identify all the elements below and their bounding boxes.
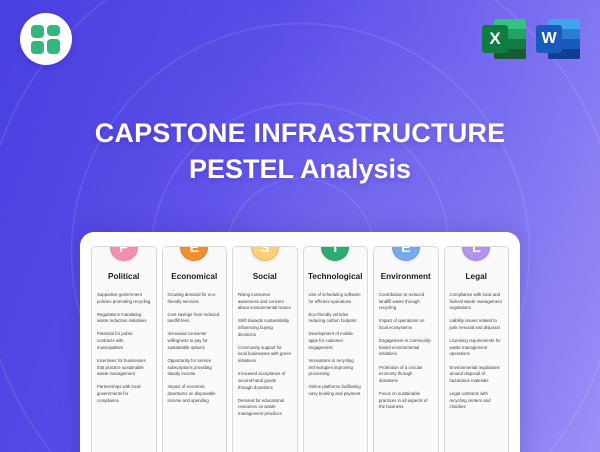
logo-square-top-left <box>31 25 44 38</box>
pestel-bullet: Liability issues related to junk removal… <box>450 318 504 331</box>
pestel-column-political[interactable]: PPoliticalSupportive government policies… <box>91 246 157 452</box>
pestel-bullet: Eco-friendly vehicles reducing carbon fo… <box>309 312 363 325</box>
pestel-badge-legal: L <box>462 246 490 261</box>
word-icon-letter: W <box>536 25 562 53</box>
pestel-bullet: Incentives for businesses that practice … <box>97 358 151 378</box>
top-bar: X W <box>0 0 600 78</box>
pestel-badge-economical: E <box>180 246 208 261</box>
pestel-column-legal[interactable]: LLegalCompliance with local and federal … <box>444 246 510 452</box>
pestel-bullet: Compliance with local and federal waste … <box>450 292 504 312</box>
pestel-column-technological[interactable]: TTechnologicalUse of scheduling software… <box>303 246 369 452</box>
pestel-bullet: Innovations in recycling technologies im… <box>309 358 363 378</box>
pestel-column-environment[interactable]: EEnvironmentContribution to reduced land… <box>373 246 439 452</box>
pestel-column-body: Rising consumer awareness and concern ab… <box>233 292 297 452</box>
pestel-column-title: Social <box>233 263 297 292</box>
pestel-columns: PPoliticalSupportive government policies… <box>91 246 509 452</box>
pestel-column-body: Contribution to reduced landfill waste t… <box>374 292 438 452</box>
grid-logo-icon[interactable] <box>20 13 72 65</box>
pestel-bullet: Regulations mandating waste reduction in… <box>97 312 151 325</box>
pestel-bullet: Increased consumer willingness to pay fo… <box>168 331 222 351</box>
pestel-column-title: Political <box>92 263 156 292</box>
pestel-bullet: Development of mobile apps for customer … <box>309 331 363 351</box>
pestel-bullet: Impact of economic downturns on disposab… <box>168 384 222 404</box>
word-icon[interactable]: W <box>536 17 580 61</box>
pestel-bullet: Community support for local businesses w… <box>238 345 292 365</box>
pestel-bullet: Impact of operations on local ecosystems <box>379 318 433 331</box>
export-icons: X W <box>482 17 580 61</box>
pestel-bullet: Demand for educational resources on wast… <box>238 398 292 418</box>
pestel-bullet: Rising consumer awareness and concern ab… <box>238 292 292 312</box>
pestel-bullet: Growing demand for eco-friendly services <box>168 292 222 305</box>
pestel-bullet: Licensing requirements for waste managem… <box>450 338 504 358</box>
pestel-bullet: Online platforms facilitating easy booki… <box>309 384 363 397</box>
excel-icon-letter: X <box>482 25 508 53</box>
logo-square-top-right <box>47 25 60 36</box>
title-line-2: PESTEL Analysis <box>0 152 600 187</box>
title-line-1: CAPSTONE INFRASTRUCTURE <box>0 118 600 150</box>
pestel-bullet: Legal contracts with recycling centers a… <box>450 391 504 411</box>
pestel-bullet: Partnerships with local governments for … <box>97 384 151 404</box>
logo-square-bottom-right <box>47 39 60 54</box>
pestel-bullet: Engagement in community-based environmen… <box>379 338 433 358</box>
pestel-column-economical[interactable]: EEconomicalGrowing demand for eco-friend… <box>162 246 228 452</box>
pestel-bullet: Potential for public contracts with muni… <box>97 331 151 351</box>
pestel-bullet: Shift towards sustainability influencing… <box>238 318 292 338</box>
pestel-column-title: Economical <box>163 263 227 292</box>
pestel-column-body: Supportive government policies promoting… <box>92 292 156 452</box>
pestel-badge-technological: T <box>321 246 349 261</box>
pestel-bullet: Use of scheduling software for efficient… <box>309 292 363 305</box>
logo-grid-shape <box>31 25 61 53</box>
pestel-bullet: Cost savings from reduced landfill fees <box>168 312 222 325</box>
pestel-column-body: Compliance with local and federal waste … <box>445 292 509 452</box>
pestel-bullet: Environmental regulations around disposa… <box>450 365 504 385</box>
pestel-column-title: Technological <box>304 263 368 292</box>
pestel-bullet: Supportive government policies promoting… <box>97 292 151 305</box>
excel-icon[interactable]: X <box>482 17 526 61</box>
page-title: CAPSTONE INFRASTRUCTURE PESTEL Analysis <box>0 118 600 187</box>
logo-square-bottom-left <box>31 41 44 54</box>
pestel-bullet: Focus on sustainable practices in all as… <box>379 391 433 411</box>
pestel-column-title: Environment <box>374 263 438 292</box>
pestel-bullet: Promotion of a circular economy through … <box>379 365 433 385</box>
pestel-bullet: Contribution to reduced landfill waste t… <box>379 292 433 312</box>
pestel-badge-social: S <box>251 246 279 261</box>
pestel-column-social[interactable]: SSocialRising consumer awareness and con… <box>232 246 298 452</box>
pestel-column-body: Use of scheduling software for efficient… <box>304 292 368 452</box>
pestel-column-title: Legal <box>445 263 509 292</box>
pestel-column-body: Growing demand for eco-friendly services… <box>163 292 227 452</box>
pestel-bullet: Opportunity for service subscriptions pr… <box>168 358 222 378</box>
pestel-board: PPoliticalSupportive government policies… <box>80 232 520 452</box>
pestel-bullet: Increased acceptance of second-hand good… <box>238 371 292 391</box>
pestel-badge-environment: E <box>392 246 420 261</box>
pestel-badge-political: P <box>110 246 138 261</box>
